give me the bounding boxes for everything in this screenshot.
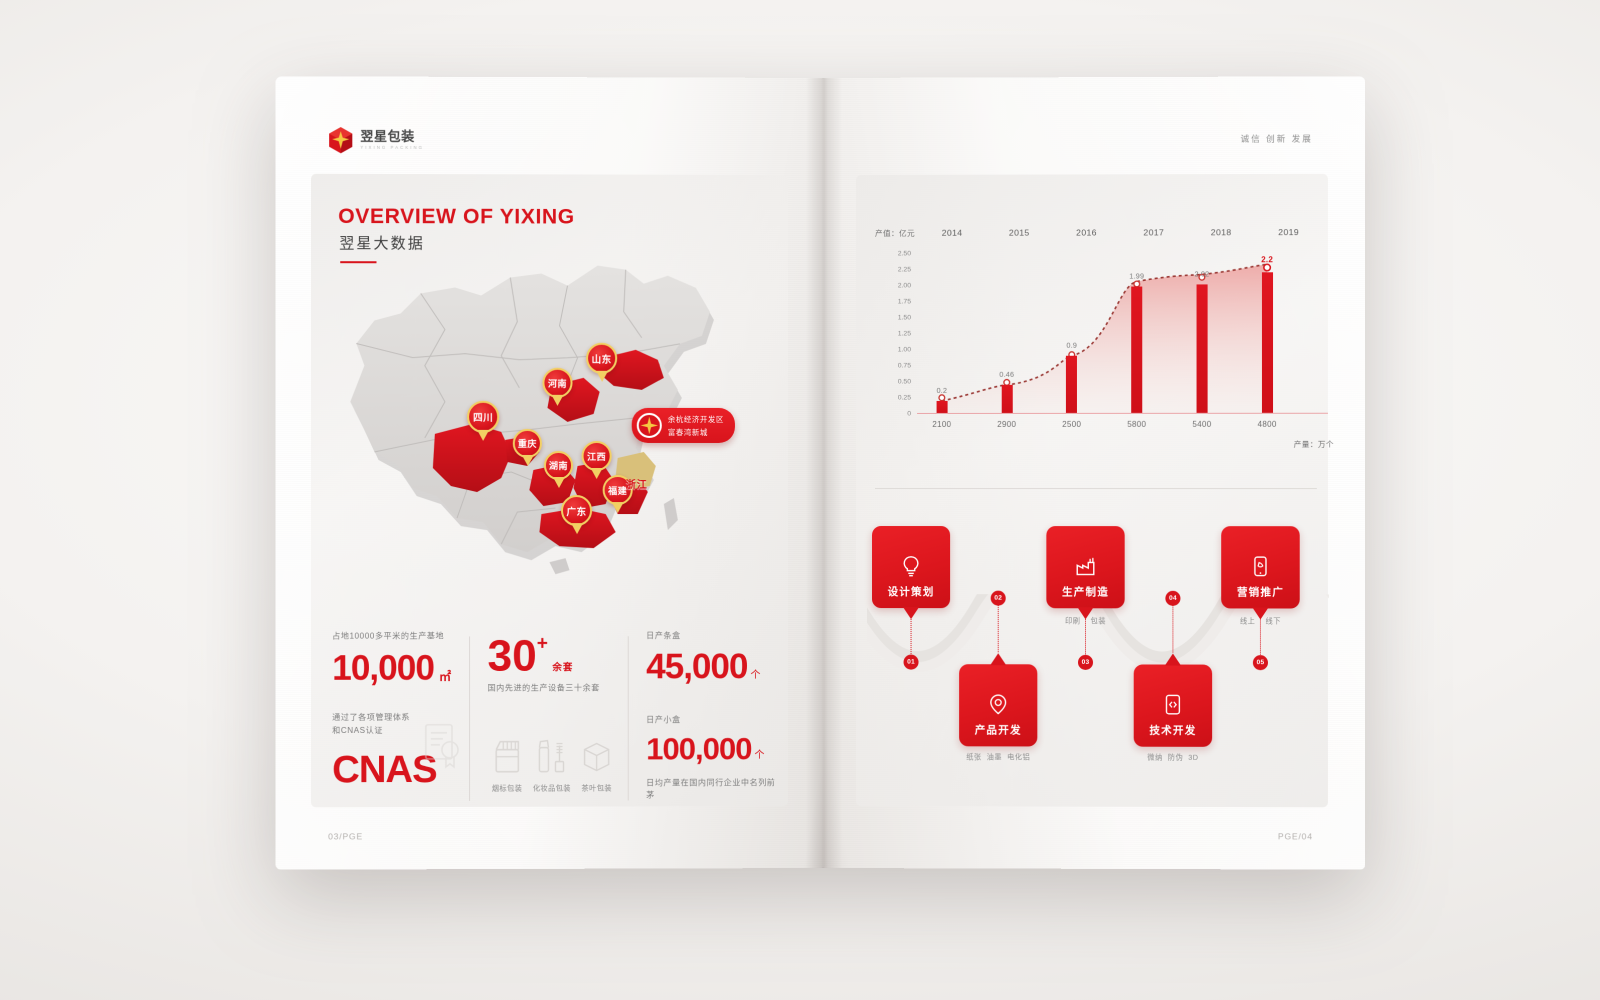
lightbulb-icon bbox=[900, 555, 922, 577]
process-tags-product: 纸张 油墨 电化铝 bbox=[959, 752, 1037, 762]
ytick: 2.50 bbox=[898, 250, 911, 257]
china-map: 四川 重庆 河南 山东 湖南 bbox=[304, 225, 806, 627]
map-pin-label: 江西 bbox=[582, 441, 612, 471]
chart-y-axis: 2.50 2.25 2.00 1.75 1.50 1.25 1.00 0.75 … bbox=[875, 254, 911, 414]
process-tag: 防伪 bbox=[1168, 753, 1183, 763]
process-card-product[interactable]: 产品开发 bbox=[959, 664, 1037, 746]
chart-x-axis-title: 产量：万个 bbox=[1294, 439, 1334, 450]
output-footnote: 日均产量在国内同行企业中名列前茅 bbox=[646, 777, 783, 803]
process-tag: 线上 bbox=[1240, 616, 1255, 626]
certificate-icon bbox=[423, 723, 465, 769]
chart-bar-2019[interactable] bbox=[1262, 272, 1273, 413]
star-glyph bbox=[639, 415, 660, 436]
header-slogan: 诚信 创新 发展 bbox=[1241, 133, 1313, 145]
pin-tail bbox=[521, 455, 533, 466]
carton-value-group: 45,000 个 bbox=[646, 649, 783, 684]
brand-name-en: YIXING PACKING bbox=[360, 146, 424, 150]
production-chart: 产值：亿元 2014 2015 2016 2017 2018 2019 2.50… bbox=[875, 227, 1332, 448]
stats-row: 占地10000多平米的生产基地 10,000 ㎡ 通过了各项管理体系 和CNAS… bbox=[332, 630, 783, 811]
map-pin-label: 山东 bbox=[586, 343, 617, 374]
left-page: 翌星包装 YIXING PACKING OVERVIEW OF YIXING 翌… bbox=[276, 76, 823, 869]
pin-tail bbox=[552, 477, 564, 488]
carton-unit: 个 bbox=[750, 671, 759, 681]
process-tag: 包装 bbox=[1091, 616, 1106, 626]
box-icon bbox=[580, 737, 614, 773]
process-number-05: 05 bbox=[1253, 655, 1268, 670]
map-pin-sichuan[interactable]: 四川 bbox=[467, 401, 499, 433]
equipment-value: 30 bbox=[488, 634, 537, 678]
carton-value: 45,000 bbox=[646, 649, 747, 684]
map-pin-label: 四川 bbox=[467, 401, 499, 433]
map-pin-shandong[interactable]: 山东 bbox=[586, 343, 617, 374]
chart-output-2019: 4800 bbox=[1258, 420, 1277, 429]
callout-line-1: 余杭经济开发区 bbox=[668, 413, 724, 424]
connector-02 bbox=[998, 600, 999, 652]
callout-line-2: 富春湾新城 bbox=[668, 426, 724, 437]
equipment-value-group: 30+ 余套 bbox=[488, 634, 617, 678]
ytick: 0.50 bbox=[898, 378, 911, 385]
process-tags-technology: 微纳 防伪 3D bbox=[1134, 753, 1212, 763]
process-tag: 3D bbox=[1188, 753, 1198, 763]
location-pin-icon bbox=[987, 693, 1009, 715]
map-pin-label: 广东 bbox=[561, 495, 592, 526]
chart-year-2018: 2018 bbox=[1211, 227, 1232, 237]
product-label: 化妆品包装 bbox=[532, 783, 571, 793]
chart-value-2015: 0.46 bbox=[999, 370, 1014, 379]
chart-value-2017: 1.99 bbox=[1129, 272, 1144, 281]
product-label: 烟标包装 bbox=[488, 784, 527, 794]
process-tags-marketing: 线上 线下 bbox=[1221, 616, 1300, 626]
process-tag: 油墨 bbox=[987, 752, 1002, 762]
process-tag: 印刷 bbox=[1065, 616, 1080, 626]
pin-tail bbox=[591, 468, 603, 479]
chart-value-2014: 0.2 bbox=[937, 386, 948, 395]
product-tea: 茶叶包装 bbox=[577, 737, 616, 793]
box-value: 100,000 bbox=[646, 733, 751, 764]
chart-output-2014: 2100 bbox=[932, 420, 951, 429]
brochure-spread: 翌星包装 YIXING PACKING OVERVIEW OF YIXING 翌… bbox=[278, 78, 1363, 868]
process-tag: 线下 bbox=[1265, 617, 1280, 627]
chart-year-2015: 2015 bbox=[1009, 228, 1030, 238]
chart-bar-2017[interactable] bbox=[1131, 286, 1142, 414]
process-card-design[interactable]: 设计策划 bbox=[872, 526, 950, 608]
pin-tail bbox=[571, 523, 583, 534]
chart-year-2019: 2019 bbox=[1278, 227, 1299, 237]
page-number-left: 03/PGE bbox=[328, 831, 363, 841]
equipment-superscript: + bbox=[537, 633, 548, 654]
chart-nodes bbox=[917, 253, 1300, 414]
map-pin-henan[interactable]: 河南 bbox=[542, 368, 572, 398]
page-number-right: PGE/04 bbox=[1278, 831, 1313, 841]
process-label: 产品开发 bbox=[975, 722, 1022, 737]
zhejiang-label: 浙江 bbox=[626, 476, 648, 491]
mobile-phone-icon bbox=[1249, 555, 1271, 577]
process-card-manufacture[interactable]: 生产制造 bbox=[1046, 526, 1124, 608]
chart-bar-2016[interactable] bbox=[1066, 356, 1077, 414]
product-cigarette: 烟标包装 bbox=[488, 737, 527, 793]
process-number-01: 01 bbox=[904, 655, 919, 670]
chart-year-2017: 2017 bbox=[1143, 227, 1164, 237]
ytick: 2.25 bbox=[898, 266, 911, 273]
pin-tail bbox=[477, 430, 489, 441]
area-value: 10,000 bbox=[332, 650, 434, 685]
card-tail bbox=[990, 653, 1006, 665]
chart-output-2015: 2900 bbox=[997, 420, 1016, 429]
map-pin-label: 河南 bbox=[542, 368, 572, 398]
column-divider bbox=[628, 636, 629, 800]
map-pin-jiangxi[interactable]: 江西 bbox=[582, 441, 612, 471]
box-unit: 个 bbox=[754, 751, 763, 761]
equipment-caption: 国内先进的生产设备三十余套 bbox=[488, 682, 617, 695]
chart-year-2016: 2016 bbox=[1076, 227, 1097, 237]
chart-value-2016: 0.9 bbox=[1066, 341, 1077, 350]
carton-caption: 日产条盒 bbox=[646, 630, 783, 643]
equipment-unit: 余套 bbox=[552, 662, 573, 673]
lipstick-icon bbox=[535, 737, 569, 773]
ytick: 0 bbox=[907, 410, 911, 417]
process-card-marketing[interactable]: 营销推广 bbox=[1221, 526, 1300, 608]
chart-output-2016: 2500 bbox=[1062, 420, 1081, 429]
pin-tail bbox=[596, 371, 608, 382]
area-unit: ㎡ bbox=[439, 670, 450, 682]
section-divider bbox=[875, 488, 1317, 489]
product-cosmetics: 化妆品包装 bbox=[532, 737, 571, 793]
product-label: 茶叶包装 bbox=[577, 783, 616, 793]
chart-value-2018: 2.02 bbox=[1194, 269, 1209, 278]
ytick: 1.50 bbox=[898, 314, 911, 321]
chart-baseline bbox=[917, 413, 1328, 414]
factory-icon bbox=[1074, 555, 1096, 577]
process-flow: 设计策划 01 02 产品开发 纸张 油墨 电化铝 bbox=[867, 528, 1329, 829]
column-divider bbox=[469, 636, 470, 800]
pin-tail bbox=[551, 395, 563, 406]
brand-logo: 翌星包装 YIXING PACKING bbox=[328, 127, 424, 154]
connector-04 bbox=[1172, 600, 1173, 652]
process-number-04: 04 bbox=[1165, 591, 1180, 606]
process-number-03: 03 bbox=[1078, 655, 1093, 670]
map-pin-hunan[interactable]: 湖南 bbox=[544, 451, 573, 480]
ytick: 0.25 bbox=[898, 394, 911, 401]
process-card-technology[interactable]: 技术开发 bbox=[1134, 664, 1212, 746]
map-pin-label: 重庆 bbox=[513, 429, 542, 458]
ytick: 2.00 bbox=[898, 282, 911, 289]
chart-output-2018: 5400 bbox=[1192, 420, 1211, 429]
chart-year-2014: 2014 bbox=[942, 228, 963, 238]
chart-bar-2015[interactable] bbox=[1001, 384, 1012, 413]
box-caption: 日产小盒 bbox=[646, 714, 783, 727]
hq-callout[interactable]: 余杭经济开发区 富春湾新城 bbox=[632, 408, 735, 443]
map-pin-guangdong[interactable]: 广东 bbox=[561, 495, 592, 526]
right-page: 诚信 创新 发展 产值：亿元 2014 2015 2016 2017 2018 … bbox=[823, 76, 1365, 869]
process-tag: 微纳 bbox=[1147, 753, 1162, 763]
area-caption: 占地10000多平米的生产基地 bbox=[332, 630, 455, 643]
process-label: 营销推广 bbox=[1237, 584, 1284, 599]
card-tail bbox=[1165, 653, 1181, 665]
cigarette-pack-icon bbox=[492, 737, 522, 773]
chart-bar-2018[interactable] bbox=[1196, 284, 1207, 414]
ytick: 0.75 bbox=[898, 362, 911, 369]
stat-equipment: 30+ 余套 国内先进的生产设备三十余套 bbox=[469, 630, 628, 811]
chart-value-2019: 2.2 bbox=[1261, 255, 1273, 264]
code-icon bbox=[1162, 694, 1184, 716]
map-pin-chongqing[interactable]: 重庆 bbox=[513, 429, 542, 458]
map-pin-label: 湖南 bbox=[544, 451, 573, 480]
brand-name-cn: 翌星包装 bbox=[360, 130, 424, 143]
chart-y-axis-title: 产值：亿元 bbox=[875, 228, 915, 239]
product-icons: 烟标包装 化妆品包装 bbox=[488, 737, 617, 793]
box-value-group: 100,000 个 bbox=[646, 733, 783, 764]
process-tags-manufacture: 印刷 包装 bbox=[1046, 616, 1124, 626]
hexagon-star-logo-icon bbox=[328, 127, 353, 154]
card-tail bbox=[903, 607, 919, 619]
process-tag: 电化铝 bbox=[1007, 752, 1030, 762]
ytick: 1.25 bbox=[898, 330, 911, 337]
process-tag: 纸张 bbox=[966, 752, 981, 762]
area-value-group: 10,000 ㎡ bbox=[332, 650, 455, 685]
chart-plot-area: 0.2 0.46 0.9 1.99 2.02 2.2 2100 2900 250… bbox=[917, 253, 1300, 414]
process-label: 设计策划 bbox=[888, 584, 935, 599]
pin-tail bbox=[612, 502, 624, 513]
ytick: 1.75 bbox=[898, 298, 911, 305]
stat-output: 日产条盒 45,000 个 日产小盒 100,000 个 日均产量在国内同行企业… bbox=[628, 630, 783, 810]
chart-output-2017: 5800 bbox=[1127, 420, 1146, 429]
stat-area-cert: 占地10000多平米的生产基地 10,000 ㎡ 通过了各项管理体系 和CNAS… bbox=[332, 630, 469, 811]
process-label: 生产制造 bbox=[1062, 584, 1109, 599]
process-number-02: 02 bbox=[991, 591, 1006, 606]
ytick: 1.00 bbox=[898, 346, 911, 353]
star-emblem-icon bbox=[637, 413, 662, 438]
process-label: 技术开发 bbox=[1149, 723, 1196, 738]
